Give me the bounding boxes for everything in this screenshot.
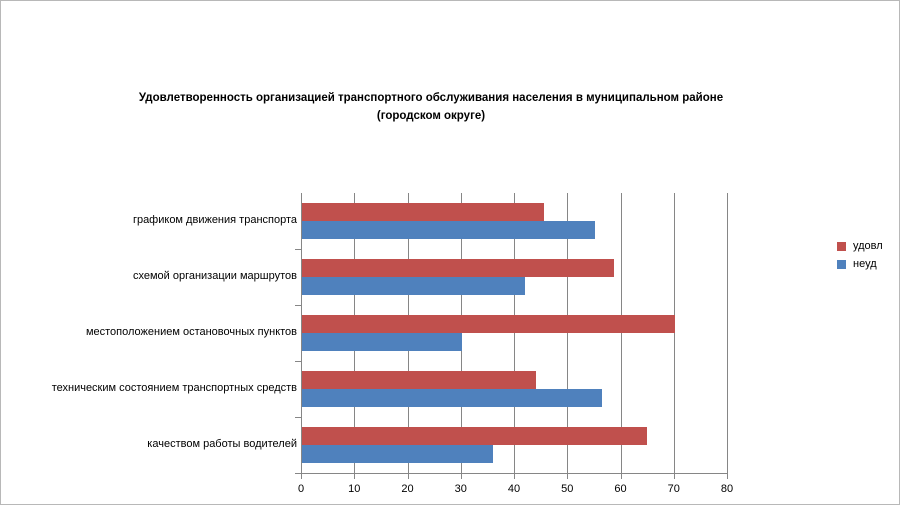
x-axis-label-30: 30	[441, 483, 481, 495]
x-axis-label-20: 20	[388, 483, 428, 495]
y-axis-tick-1	[295, 305, 301, 306]
y-axis-line	[301, 193, 302, 474]
x-axis-tick-40	[514, 474, 515, 479]
x-axis-tick-50	[567, 474, 568, 479]
bar-неуд-2	[302, 333, 462, 351]
x-axis-tick-10	[354, 474, 355, 479]
y-axis-tick-2	[295, 361, 301, 362]
category-axis-labels: графиком движения транспортасхемой орган…	[1, 1, 297, 505]
bar-удовл-4	[302, 427, 647, 445]
legend-item-удовл[interactable]: удовл	[837, 237, 900, 255]
legend-label-удовл: удовл	[853, 240, 883, 252]
bar-удовл-0	[302, 203, 544, 221]
category-label-2: местоположением остановочных пунктов	[5, 326, 297, 338]
x-axis-label-60: 60	[601, 483, 641, 495]
legend-label-неуд: неуд	[853, 258, 877, 270]
bar-удовл-1	[302, 259, 614, 277]
category-label-0: графиком движения транспорта	[5, 214, 297, 226]
category-label-4: качеством работы водителей	[5, 438, 297, 450]
gridline-70	[674, 193, 675, 473]
x-axis-label-0: 0	[281, 483, 321, 495]
chart-screenshot: Удовлетворенность организацией транспорт…	[0, 0, 900, 505]
legend-item-неуд[interactable]: неуд	[837, 255, 900, 273]
gridline-80	[727, 193, 728, 473]
legend-swatch-удовл	[837, 242, 846, 251]
x-axis-label-80: 80	[707, 483, 747, 495]
chart-legend: удовлнеуд	[837, 237, 900, 273]
x-axis-label-70: 70	[654, 483, 694, 495]
bar-неуд-4	[302, 445, 493, 463]
x-axis-tick-30	[461, 474, 462, 479]
plot-area	[301, 193, 727, 473]
x-axis-tick-20	[408, 474, 409, 479]
bar-неуд-3	[302, 389, 602, 407]
x-axis-tick-60	[621, 474, 622, 479]
x-axis-tick-80	[727, 474, 728, 479]
bar-удовл-3	[302, 371, 536, 389]
legend-swatch-неуд	[837, 260, 846, 269]
category-label-1: схемой организации маршрутов	[5, 270, 297, 282]
x-axis-label-40: 40	[494, 483, 534, 495]
bar-неуд-0	[302, 221, 595, 239]
bar-удовл-2	[302, 315, 675, 333]
x-axis-tick-0	[301, 474, 302, 479]
x-axis-tick-70	[674, 474, 675, 479]
bar-неуд-1	[302, 277, 525, 295]
y-axis-tick-0	[295, 249, 301, 250]
x-axis-label-50: 50	[547, 483, 587, 495]
x-axis-label-10: 10	[334, 483, 374, 495]
category-label-3: техническим состоянием транспортных сред…	[5, 382, 297, 394]
y-axis-tick-3	[295, 417, 301, 418]
